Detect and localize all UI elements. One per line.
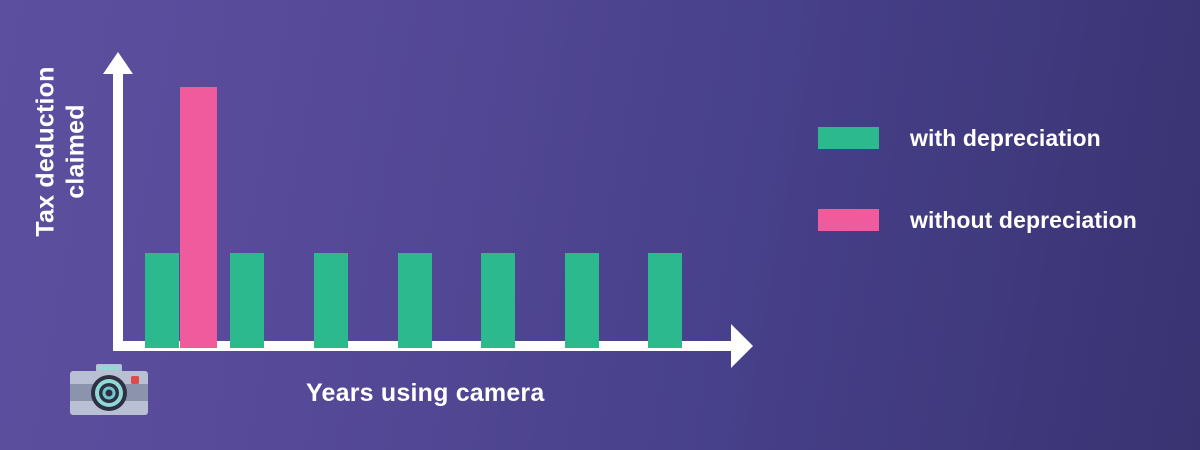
camera-icon: [68, 364, 150, 422]
y-axis-title-line-1: Tax deduction: [32, 57, 62, 247]
bar-year-6-with-depreciation: [565, 253, 599, 348]
chart-canvas: Tax deduction claimed Years using camera: [0, 0, 1200, 450]
legend-with-depreciation-label: with depreciation: [910, 125, 1101, 152]
bar-year-4-with-depreciation: [398, 253, 432, 348]
y-axis-line: [113, 70, 123, 351]
legend-without-depreciation-label: without depreciation: [910, 207, 1137, 234]
bar-year-1-with-depreciation: [145, 253, 179, 348]
legend-without-depreciation[interactable]: without depreciation: [818, 208, 1137, 232]
legend-without-depreciation-swatch: [818, 209, 879, 231]
legend-with-depreciation-swatch: [818, 127, 879, 149]
y-axis-title-line-2: claimed: [61, 57, 91, 247]
bar-year-5-with-depreciation: [481, 253, 515, 348]
x-axis-arrow-icon: [731, 324, 753, 368]
bar-year-1-without-depreciation: [180, 87, 217, 348]
legend-with-depreciation[interactable]: with depreciation: [818, 126, 1137, 150]
bar-year-2-with-depreciation: [230, 253, 264, 348]
y-axis-title: Tax deduction claimed: [32, 57, 91, 247]
bar-year-3-with-depreciation: [314, 253, 348, 348]
x-axis-title: Years using camera: [306, 379, 544, 408]
y-axis-arrow-icon: [103, 52, 133, 74]
bar-year-7-with-depreciation: [648, 253, 682, 348]
chart-legend: with depreciationwithout depreciation: [818, 126, 1137, 232]
